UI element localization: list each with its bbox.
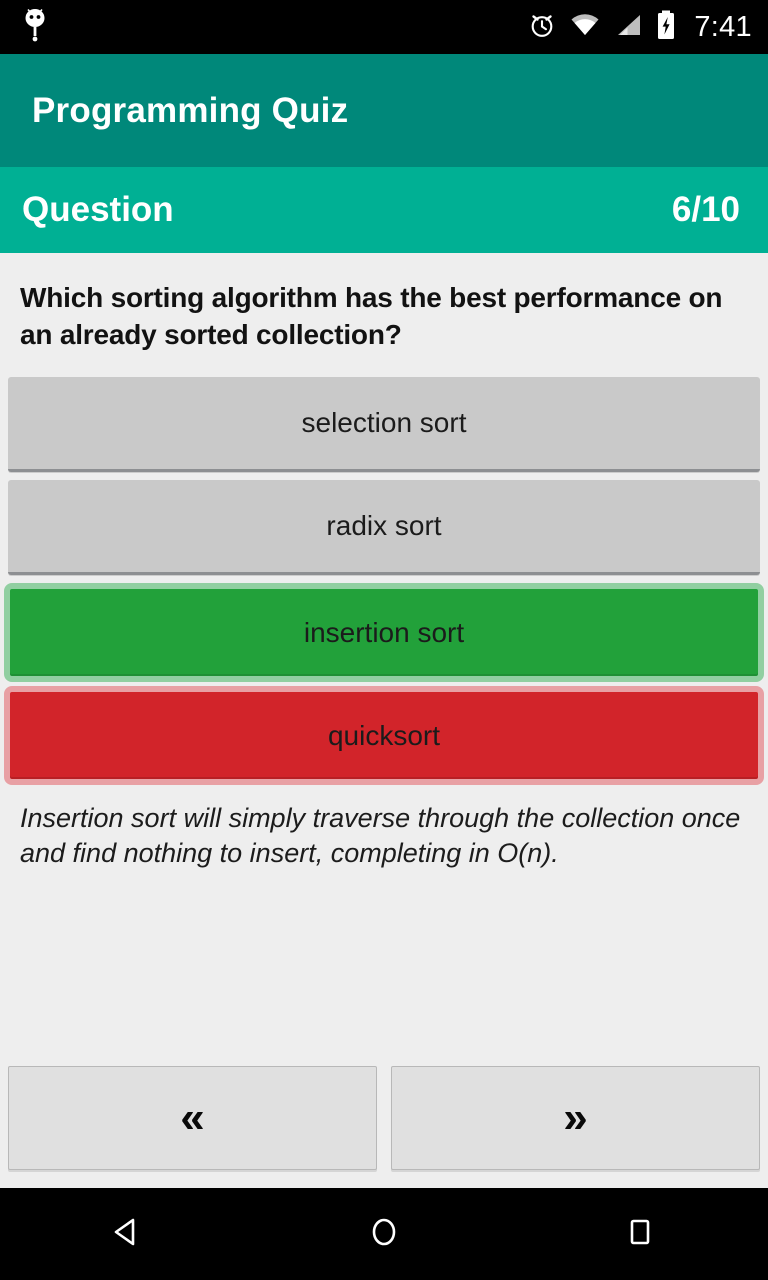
- recents-square-icon: [621, 1213, 659, 1256]
- battery-charging-icon: [656, 10, 676, 45]
- android-head-icon: [22, 8, 48, 47]
- question-text: Which sorting algorithm has the best per…: [0, 253, 768, 353]
- answer-list: selection sort radix sort insertion sort…: [0, 377, 768, 785]
- alarm-clock-icon: [528, 11, 556, 44]
- question-label: Question: [22, 190, 174, 230]
- status-bar-right: 7:41: [528, 10, 752, 45]
- answer-option-4-label: quicksort: [328, 720, 440, 752]
- double-chevron-left-icon: «: [180, 1096, 204, 1140]
- double-chevron-right-icon: »: [563, 1096, 587, 1140]
- previous-question-button[interactable]: «: [8, 1066, 377, 1170]
- answer-option-4-wrong[interactable]: quicksort: [4, 686, 764, 785]
- status-bar: 7:41: [0, 0, 768, 54]
- next-question-button[interactable]: »: [391, 1066, 760, 1170]
- navigation-row: « »: [0, 1066, 768, 1170]
- status-bar-left: [22, 8, 48, 47]
- question-counter: 6/10: [672, 190, 740, 230]
- question-header-bar: Question 6/10: [0, 167, 768, 253]
- app-title: Programming Quiz: [32, 91, 348, 131]
- answer-option-2[interactable]: radix sort: [8, 480, 760, 575]
- answer-option-1-label: selection sort: [302, 407, 467, 439]
- android-navigation-bar: [0, 1188, 768, 1280]
- app-bar: Programming Quiz: [0, 54, 768, 167]
- nav-recents-button[interactable]: [592, 1188, 688, 1280]
- home-circle-icon: [365, 1213, 403, 1256]
- phone-screen: 7:41 Programming Quiz Question 6/10 Whic…: [0, 0, 768, 1280]
- nav-home-button[interactable]: [336, 1188, 432, 1280]
- answer-explanation: Insertion sort will simply traverse thro…: [0, 789, 768, 870]
- back-triangle-icon: [109, 1213, 147, 1256]
- answer-option-1[interactable]: selection sort: [8, 377, 760, 472]
- answer-option-3-correct[interactable]: insertion sort: [4, 583, 764, 682]
- answer-option-2-label: radix sort: [326, 510, 441, 542]
- wifi-icon: [570, 13, 600, 42]
- status-bar-clock: 7:41: [694, 11, 752, 44]
- nav-back-button[interactable]: [80, 1188, 176, 1280]
- quiz-content: Which sorting algorithm has the best per…: [0, 253, 768, 1188]
- answer-option-3-label: insertion sort: [304, 617, 464, 649]
- cell-signal-icon: [614, 13, 642, 42]
